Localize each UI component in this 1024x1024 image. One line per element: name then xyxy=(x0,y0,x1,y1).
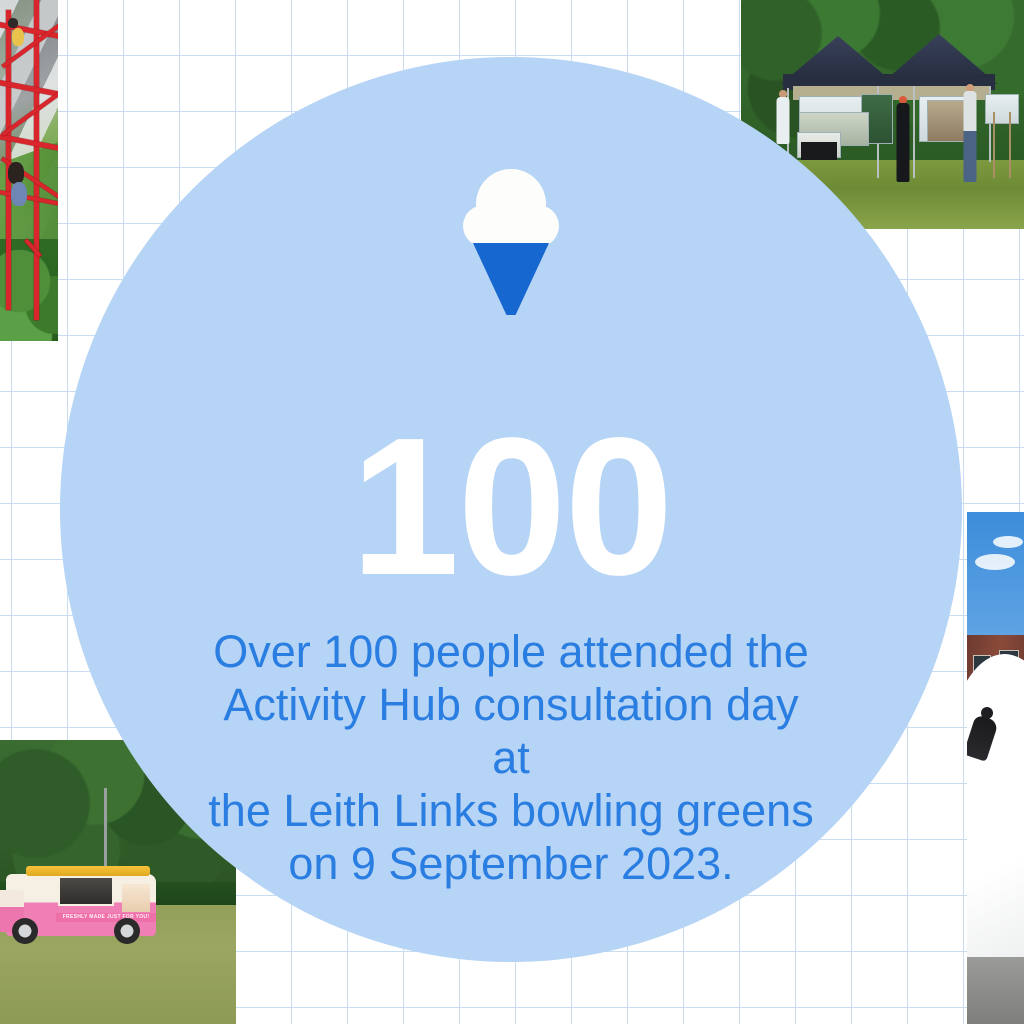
stat-description-line: the Leith Links bowling greens xyxy=(200,784,822,837)
skate-ground xyxy=(967,957,1024,1024)
person-figure xyxy=(773,90,793,144)
skater-head xyxy=(981,707,993,719)
easel-leg xyxy=(993,112,995,178)
van-wheel xyxy=(12,918,38,944)
skatepark-bowl xyxy=(967,647,1024,991)
van-slogan: FRESHLY MADE JUST FOR YOU! xyxy=(56,913,156,922)
child-figure xyxy=(11,182,27,206)
van-wheel xyxy=(114,918,140,944)
stat-circle: 100 Over 100 people attended the Activit… xyxy=(60,57,962,962)
gazebo-pole xyxy=(913,86,915,178)
infographic-canvas: FRESHLY MADE JUST FOR YOU! 100 Over 100 … xyxy=(0,0,1024,1024)
child-figure xyxy=(12,28,24,46)
van-serving-window xyxy=(58,876,114,906)
stat-description: Over 100 people attended the Activity Hu… xyxy=(200,625,822,890)
scoop-base xyxy=(469,215,553,245)
stat-number: 100 xyxy=(60,409,962,605)
child-figure xyxy=(8,162,24,184)
cone-shape xyxy=(473,243,549,315)
cloud xyxy=(975,554,1015,570)
child-figure xyxy=(8,18,18,28)
cloud xyxy=(993,536,1023,548)
skatepark-photo xyxy=(967,512,1024,1024)
playground-climbing-frame-photo xyxy=(0,0,58,341)
person-body xyxy=(777,97,790,144)
easel-leg xyxy=(1009,112,1011,178)
stat-description-line: Over 100 people attended the xyxy=(200,625,822,678)
person-figure xyxy=(893,96,913,182)
person-body xyxy=(964,91,977,182)
van-roof-sign xyxy=(26,866,150,876)
person-body xyxy=(897,103,910,182)
easel-board xyxy=(985,94,1019,124)
person-figure xyxy=(959,84,981,182)
ice-cream-cone-icon xyxy=(463,169,559,315)
stat-description-line: on 9 September 2023. xyxy=(200,837,822,890)
frame-post xyxy=(34,0,39,320)
stat-description-line: Activity Hub consultation day at xyxy=(200,678,822,784)
table-cloth xyxy=(801,142,837,160)
van-cone-graphic xyxy=(122,884,150,912)
